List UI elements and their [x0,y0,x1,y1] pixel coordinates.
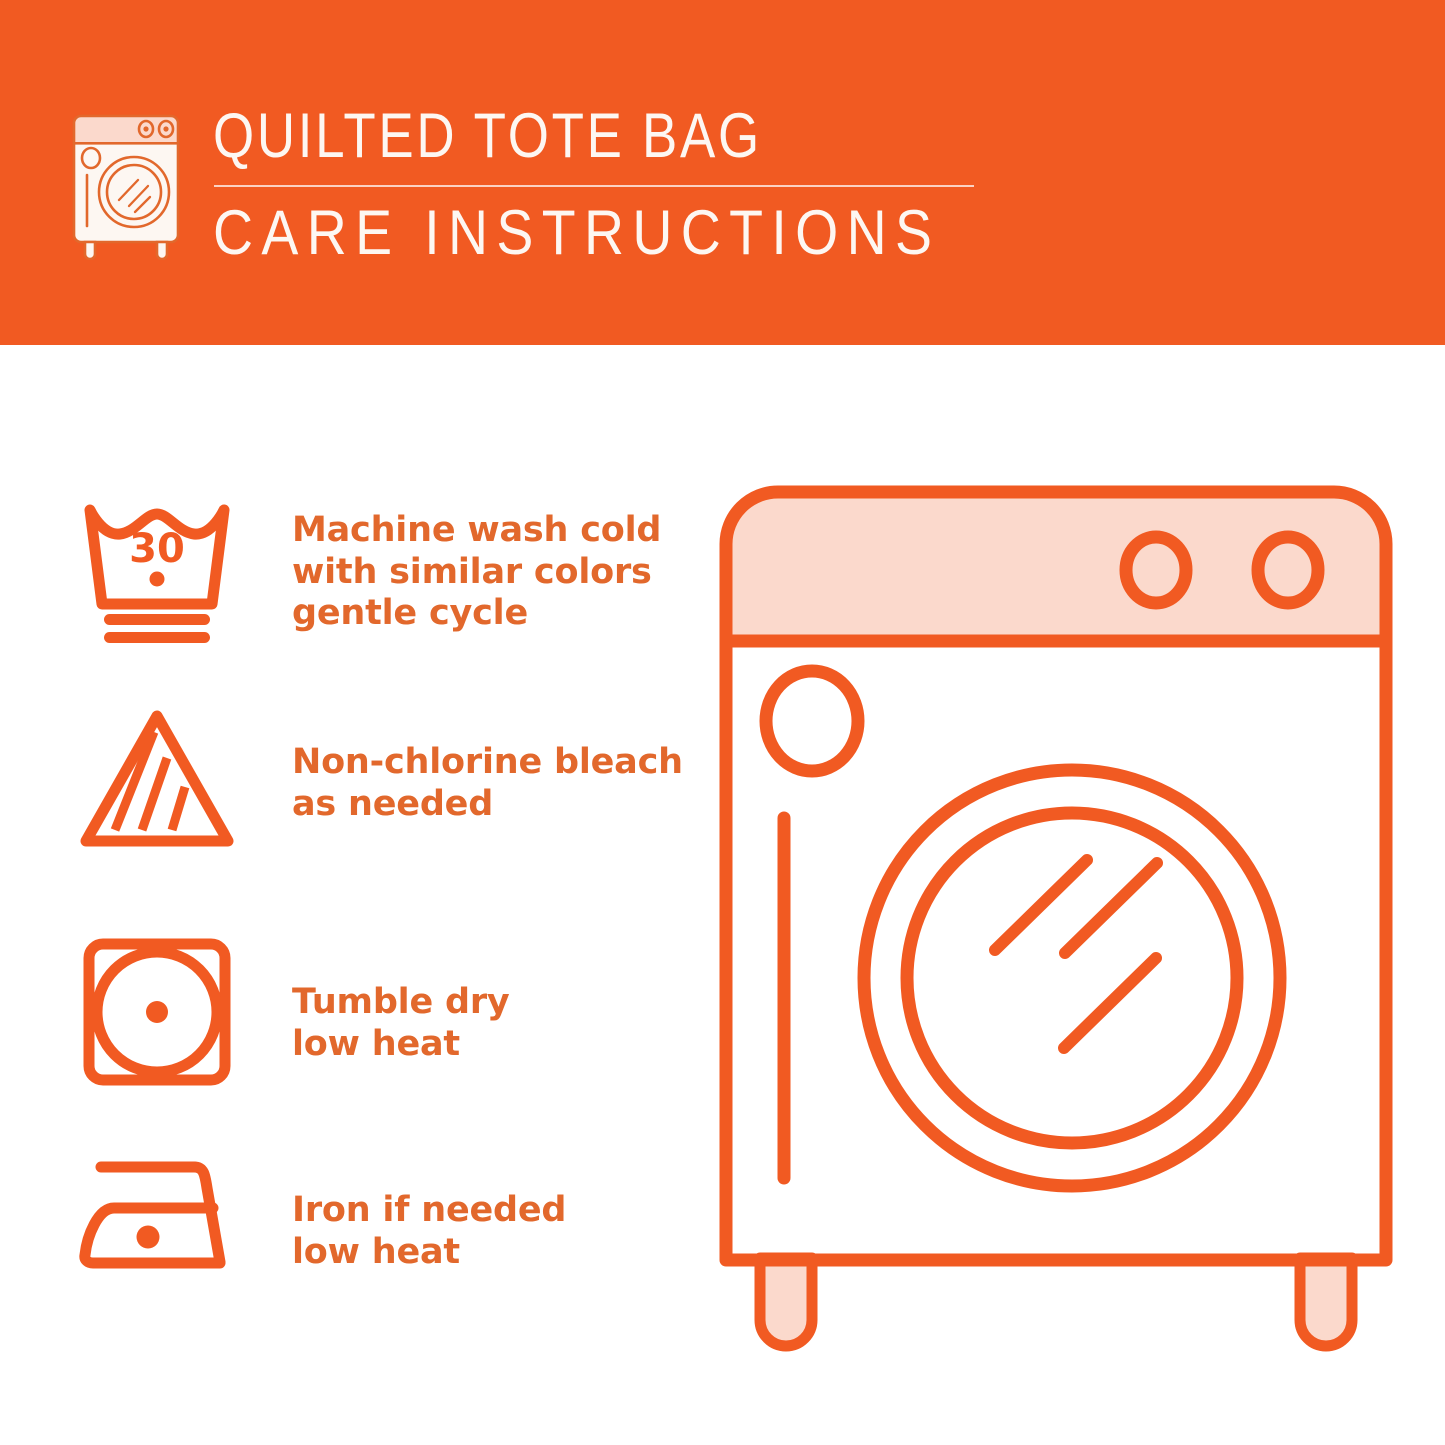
washer-drum-inner [907,813,1237,1143]
tumble-dry-low-icon [72,932,242,1092]
washer-control-panel [726,492,1386,641]
header-title-block: QUILTED TOTE BAG CARE INSTRUCTIONS [213,100,993,255]
page-title: QUILTED TOTE BAG [213,100,762,172]
washer-indicator-circle [766,671,858,771]
care-instruction-row: Iron if needed low heat [0,1150,700,1320]
care-instruction-row: Non-chlorine bleach as needed [0,702,700,872]
page-subtitle: CARE INSTRUCTIONS [213,197,940,269]
care-instruction-label: Machine wash cold with similar colors ge… [292,510,661,635]
care-instruction-row: Tumble dry low heat [0,932,700,1102]
title-divider [214,185,974,187]
front-load-washing-machine-illustration [712,478,1402,1378]
machine-wash-30-gentle-icon: 30 [72,492,242,652]
washer-legs [760,1258,1352,1346]
washer-drum-outer [864,770,1280,1186]
care-instruction-label: Tumble dry low heat [292,982,510,1065]
washing-machine-icon [62,100,190,260]
care-instructions-page: QUILTED TOTE BAG CARE INSTRUCTIONS 30 Ma… [0,0,1445,1445]
svg-text:30: 30 [129,526,185,572]
header-band: QUILTED TOTE BAG CARE INSTRUCTIONS [0,0,1445,345]
care-instruction-row: 30 Machine wash cold with similar colors… [0,492,700,662]
care-instruction-label: Iron if needed low heat [292,1190,566,1273]
non-chlorine-bleach-triangle-icon [72,702,242,862]
washer-drum-stripes [995,860,1157,1048]
care-instruction-label: Non-chlorine bleach as needed [292,742,683,825]
iron-low-heat-icon [72,1150,242,1310]
